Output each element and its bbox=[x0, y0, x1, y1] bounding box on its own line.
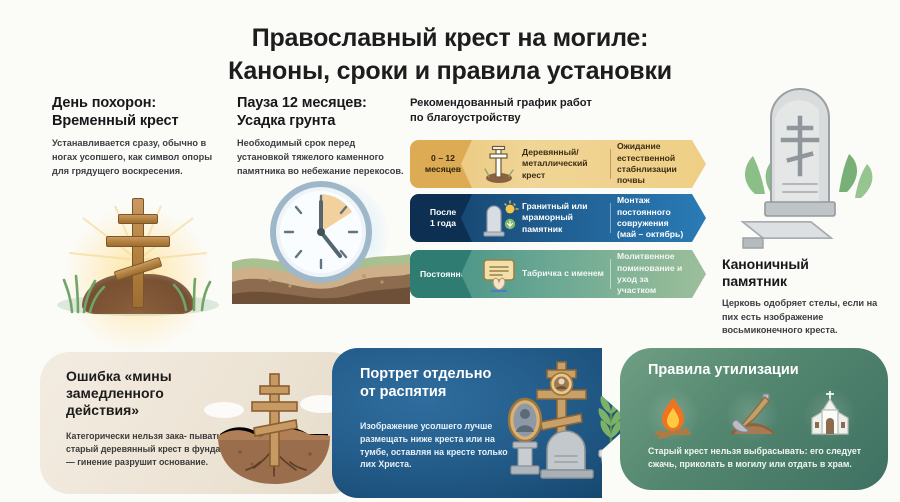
title-line-1: Православный крест на могиле: bbox=[252, 24, 649, 52]
section-canonical-monument-heading: Каноничный памятник bbox=[722, 256, 894, 290]
heading-line-2: Временный крест bbox=[52, 113, 179, 129]
schedule-row-right: Молитвенное поминование и уход за участк… bbox=[617, 250, 706, 298]
panel-portrait-separate: Портрет отдельно от распятия Изображение… bbox=[332, 348, 632, 498]
clock-face-icon bbox=[273, 184, 369, 280]
schedule-row-middle: Деревянный/ металлический крест bbox=[522, 140, 610, 188]
schedule-row-tag: Постоянно bbox=[410, 250, 472, 298]
section-funeral-day-heading: День похорон: Временный крест bbox=[52, 95, 220, 130]
heading-line-1: Пауза 12 месяцев: bbox=[237, 95, 367, 111]
divider bbox=[610, 259, 611, 289]
shovel-digging-icon bbox=[725, 388, 778, 442]
divider bbox=[610, 203, 611, 233]
section-settling-pause-body: Необходимый срок перед установкой тяжело… bbox=[237, 137, 405, 178]
heading-line-3: действия» bbox=[66, 402, 139, 418]
heading-line-2: от распятия bbox=[360, 384, 446, 400]
church-icon bbox=[803, 388, 856, 442]
infographic-canvas: Православный крест на могиле: Каноны, ср… bbox=[0, 0, 900, 502]
schedule-row-tag: 0 – 12 месяцев bbox=[410, 140, 472, 188]
heading-line-2: Усадка грунта bbox=[237, 113, 335, 129]
heading-line-1: День похорон: bbox=[52, 95, 156, 111]
panel-c-icon-row bbox=[646, 388, 856, 442]
orthodox-cross-icon bbox=[106, 198, 170, 308]
clock-soil-illustration bbox=[232, 176, 410, 304]
schedule-row-after-1-year: После 1 года Гранитный или мраморный пам… bbox=[410, 194, 706, 242]
section-settling-pause: Пауза 12 месяцев: Усадка грунта Необходи… bbox=[237, 95, 405, 178]
heading-line-2: памятник bbox=[722, 273, 787, 289]
schedule-row-right: Ожидание естественной стабнлизации почвы bbox=[617, 140, 706, 188]
tag-line-2: 1 года bbox=[430, 218, 456, 228]
name-plaque-praying-hands-icon bbox=[476, 250, 522, 298]
section-funeral-day: День похорон: Временный крест Устанавлив… bbox=[52, 95, 220, 178]
portrait-oval bbox=[509, 399, 541, 441]
campfire-icon bbox=[646, 388, 699, 442]
panel-b-heading: Портрет отдельно от распятия bbox=[360, 366, 520, 401]
schedule-row-tag: После 1 года bbox=[410, 194, 472, 242]
christ-icon-medallion bbox=[551, 373, 573, 395]
page-title: Православный крест на могиле: Каноны, ср… bbox=[0, 22, 900, 88]
panel-disposal-rules: Правила утилизации bbox=[620, 348, 888, 490]
schedule-heading-line-1: Рекомендованный график работ bbox=[410, 97, 592, 109]
panel-c-body: Старый крест нельзя выбрасывать: его сле… bbox=[648, 445, 878, 471]
schedule-row-permanent: Постоянно Табричка с именем Молитвенное … bbox=[410, 250, 706, 298]
panel-b-body: Изображение усолшего лучше размещать ниж… bbox=[360, 420, 525, 471]
schedule-row-0-12-months: 0 – 12 месяцев Деревянный/ металлический… bbox=[410, 140, 706, 188]
headstone-icon bbox=[476, 194, 522, 242]
wooden-cross-icon bbox=[476, 140, 522, 188]
schedule-row-middle: Гранитный или мраморный памятник bbox=[522, 194, 610, 242]
section-canonical-monument-body: Церковь одобряет стелы, если на пих есть… bbox=[722, 297, 894, 338]
schedule-row-right: Монтаж постоянного совружения (май – окт… bbox=[617, 194, 706, 242]
buried-cross-illustration bbox=[200, 370, 350, 488]
heading-line-1: Ошибка «мины bbox=[66, 368, 172, 384]
section-funeral-day-body: Устанавливается сразу, обычно в ногах ус… bbox=[52, 137, 220, 178]
tag-line-1: Постоянно bbox=[420, 269, 466, 279]
schedule-heading: Рекомендованный график работ по благоуст… bbox=[410, 96, 650, 126]
tag-line-2: месяцев bbox=[425, 164, 461, 174]
tag-line-1: После bbox=[430, 207, 456, 217]
heading-line-1: Портрет отдельно bbox=[360, 366, 491, 382]
heading-line-1: Каноничный bbox=[722, 256, 809, 272]
section-settling-pause-heading: Пауза 12 месяцев: Усадка грунта bbox=[237, 95, 405, 130]
tag-line-1: 0 – 12 bbox=[431, 153, 455, 163]
wooden-cross-illustration bbox=[48, 178, 228, 318]
divider bbox=[610, 149, 611, 179]
granite-stele-illustration bbox=[735, 82, 885, 254]
section-canonical-monument: Каноничный памятник Церковь одобряет сте… bbox=[722, 256, 894, 338]
schedule-heading-line-2: по благоустройству bbox=[410, 112, 521, 124]
panel-delayed-action-mistake: Ошибка «мины замедленного действия» Кате… bbox=[40, 352, 360, 494]
heading-line-2: замедленного bbox=[66, 385, 164, 401]
schedule-row-middle: Табричка с именем bbox=[522, 250, 610, 298]
panel-c-heading: Правила утилизации bbox=[648, 362, 799, 378]
